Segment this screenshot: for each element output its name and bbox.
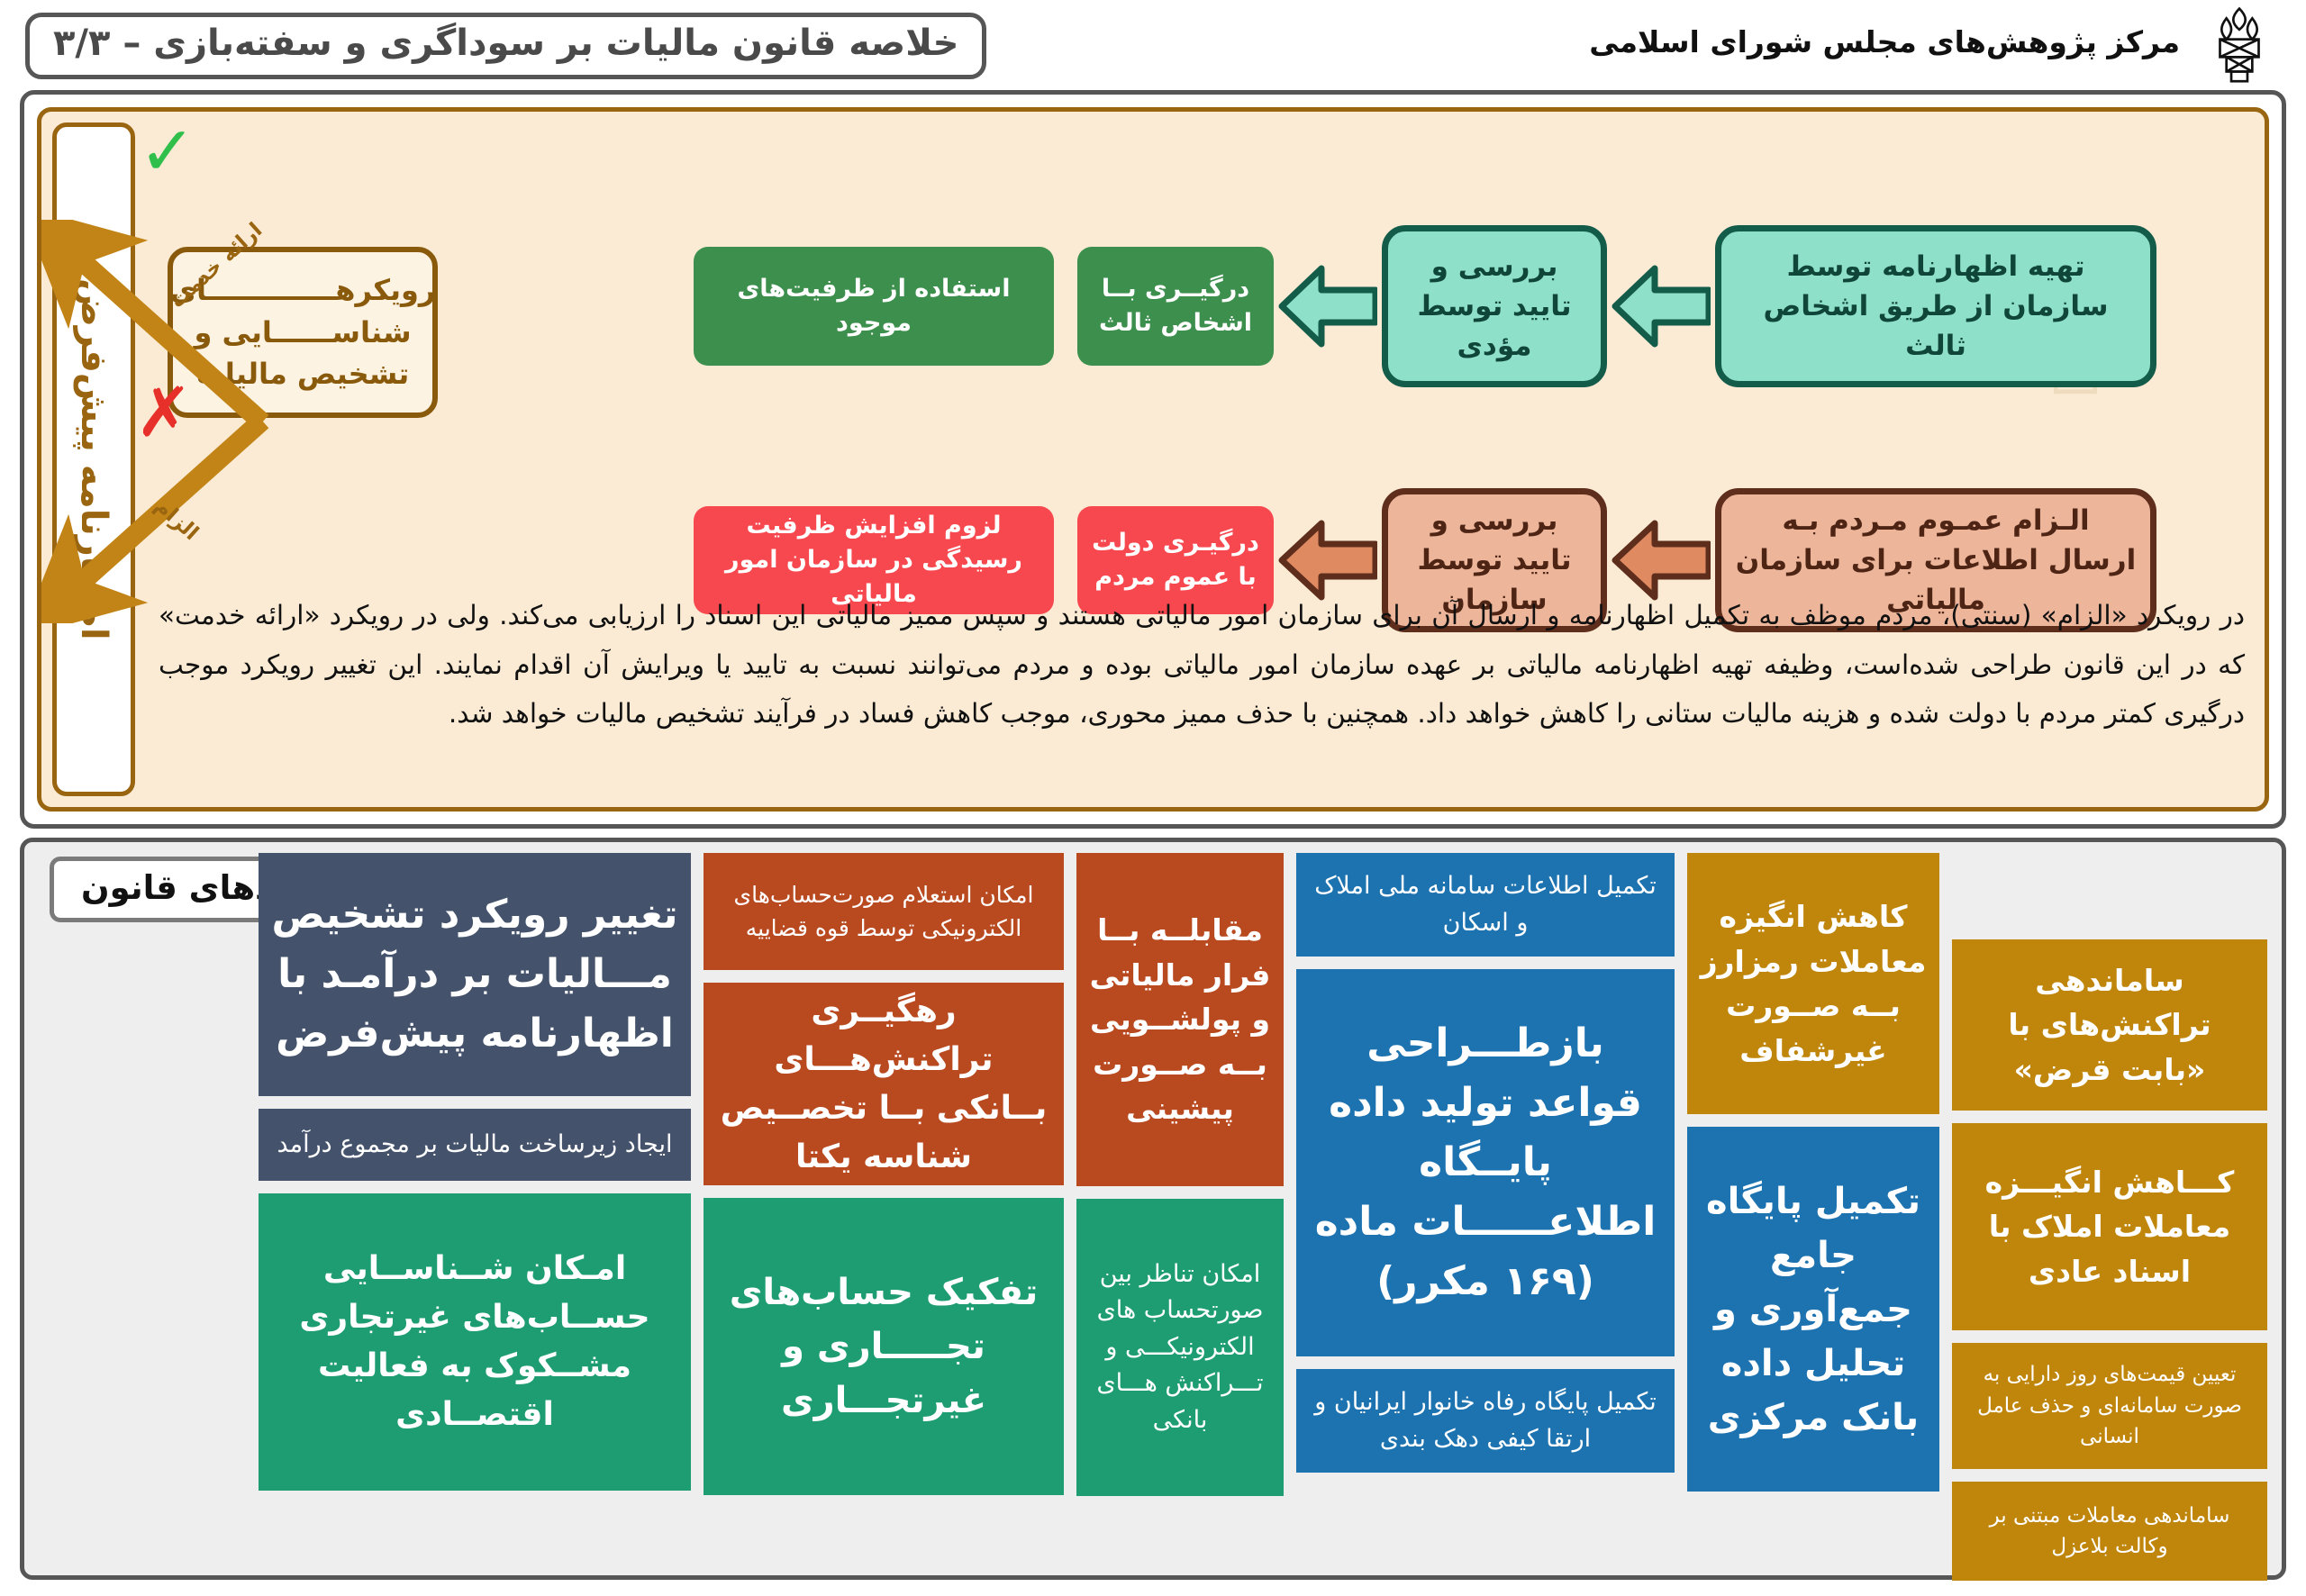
achievement-card: تکمیل پایگاه رفاه خانوار ایرانیان و ارتق… <box>1296 1369 1675 1473</box>
achievement-card: بازطـــراحی قواعد تولید داده پایــگاه اط… <box>1296 969 1675 1356</box>
achievement-text: رهگیــری تراکنش‌هـــای بــانکی بــا تخصـ… <box>716 987 1051 1182</box>
achievement-card: ساماندهی تراکنش‌های با «بابت قرض» <box>1952 939 2267 1111</box>
left-arrow-icon <box>1278 519 1377 602</box>
achievement-card: امـکان شــناســایی حســاب‌های غیرتجاری م… <box>259 1193 691 1491</box>
chain-node: بررسی و تایید توسط مؤدی <box>1382 225 1607 387</box>
achievements-panel: دستاوردهای قانون ساماندهی تراکنش‌های با … <box>20 838 2286 1580</box>
achievement-card: تعیین قیمت‌های روز دارایی به صورت سامانه… <box>1952 1343 2267 1469</box>
achievement-card: تکمیل اطلاعات سامانه ملی املاک و اسکان <box>1296 853 1675 957</box>
achievement-text: مقابلــه بــا فرار مالیاتی و پولشــویی ب… <box>1089 908 1271 1131</box>
achievement-card: امکان استعلام صورت‌حساب‌های الکترونیکی ت… <box>704 853 1064 970</box>
achievement-text: تغییر رویکرد تشخیص مـــالیات بر درآمـد ب… <box>271 885 678 1064</box>
achievement-text: ایجاد زیرساخت مالیات بر مجموع درآمد <box>277 1127 673 1164</box>
achievement-card: ساماندهی معاملات مبتنی بر وکالت بلاعزل <box>1952 1482 2267 1581</box>
achievement-text: امـکان شــناســایی حســاب‌های غیرتجاری م… <box>271 1245 678 1439</box>
chain-node-text: درگیــری بــا اشخاص ثالث <box>1090 272 1261 341</box>
achievement-text: امکان تناظر بین صورتحساب های الکترونیکــ… <box>1089 1256 1271 1439</box>
chain-node-text: درگیـری دولت با عموم مردم <box>1090 526 1261 595</box>
navy-column: تغییر رویکرد تشخیص مـــالیات بر درآمـد ب… <box>259 853 691 1491</box>
mixed-column: مقابلــه بــا فرار مالیاتی و پولشــویی ب… <box>1076 853 1284 1496</box>
achievements-grid: ساماندهی تراکنش‌های با «بابت قرض» کـــاه… <box>39 853 2267 1564</box>
left-arrow-icon <box>1611 519 1711 602</box>
chain-node-text: استفاده از ظرفیت‌های موجود <box>706 272 1041 341</box>
gold-left-column: ساماندهی تراکنش‌های با «بابت قرض» کـــاه… <box>1952 939 2267 1581</box>
achievement-card: کاهش انگیزه معاملات رمزارز بــه صــورت غ… <box>1687 853 1939 1114</box>
achievement-text: بازطـــراحی قواعد تولید داده پایــگاه اط… <box>1309 1014 1662 1311</box>
achievement-text: کاهش انگیزه معاملات رمزارز بــه صــورت غ… <box>1700 894 1927 1073</box>
achievement-text: تکمیل اطلاعات سامانه ملی املاک و اسکان <box>1309 868 1662 941</box>
left-arrow-icon <box>1611 263 1711 349</box>
achievement-text: تکمیل پایگاه جامع جمع‌آوری و تحلیل داده … <box>1700 1174 1927 1445</box>
check-mark-icon: ✓ <box>139 117 196 186</box>
achievement-text: تفکیک حساب‌های تجـــــاری و غیرتجـــاری <box>716 1265 1051 1428</box>
chain-node: درگیــری بــا اشخاص ثالث <box>1077 247 1274 366</box>
achievement-card: ایجاد زیرساخت مالیات بر مجموع درآمد <box>259 1109 691 1181</box>
left-arrow-icon <box>1278 263 1377 349</box>
gold-blue-column: کاهش انگیزه معاملات رمزارز بــه صــورت غ… <box>1687 853 1939 1492</box>
achievement-card: تغییر رویکرد تشخیص مـــالیات بر درآمـد ب… <box>259 853 691 1096</box>
chain-arrow <box>1607 225 1715 387</box>
explanatory-paragraph: در رویکرد «الزام» (سنتی)، مردم موظف به ت… <box>159 591 2245 739</box>
chain-node: استفاده از ظرفیت‌های موجود <box>694 247 1054 366</box>
achievement-text: امکان استعلام صورت‌حساب‌های الکترونیکی ت… <box>716 878 1051 946</box>
achievement-card: تفکیک حساب‌های تجـــــاری و غیرتجـــاری <box>704 1198 1064 1495</box>
page-title-chip: خلاصه قانون مالیات بر سوداگری و سفته‌باز… <box>25 13 986 79</box>
achievement-card: تکمیل پایگاه جامع جمع‌آوری و تحلیل داده … <box>1687 1127 1939 1492</box>
achievement-text: ساماندهی تراکنش‌های با «بابت قرض» <box>1965 958 2255 1093</box>
cross-mark-icon: ✗ <box>135 378 193 447</box>
achievement-text: ساماندهی معاملات مبتنی بر وکالت بلاعزل <box>1965 1501 2255 1563</box>
achievement-card: امکان تناظر بین صورتحساب های الکترونیکــ… <box>1076 1199 1284 1496</box>
majlis-research-center-logo-icon <box>2198 5 2281 83</box>
page-header: مرکز پژوهش‌های مجلس شورای اسلامی خلاصه ق… <box>0 0 2306 86</box>
achievement-card: کـــاهش انگیـــزه معاملات املاک با اسناد… <box>1952 1123 2267 1330</box>
achievement-text: کـــاهش انگیـــزه معاملات املاک با اسناد… <box>1965 1160 2255 1294</box>
blue-column: تکمیل اطلاعات سامانه ملی املاک و اسکان ب… <box>1296 853 1675 1473</box>
rust-column: امکان استعلام صورت‌حساب‌های الکترونیکی ت… <box>704 853 1064 1495</box>
brand: مرکز پژوهش‌های مجلس شورای اسلامی <box>1589 5 2281 83</box>
achievement-text: تعیین قیمت‌های روز دارایی به صورت سامانه… <box>1965 1359 2255 1453</box>
chain-node-text: بررسی و تایید توسط مؤدی <box>1401 247 1588 366</box>
declaration-panel: اظهارنامه پیش‌فرض رویکرهـــــــــــــای … <box>20 90 2286 829</box>
achievement-card: مقابلــه بــا فرار مالیاتی و پولشــویی ب… <box>1076 853 1284 1186</box>
service-approach-chain: تهیه اظهارنامه توسط سازمان از طریق اشخاص… <box>694 225 2156 387</box>
achievement-text: تکمیل پایگاه رفاه خانوار ایرانیان و ارتق… <box>1309 1384 1662 1457</box>
chain-arrow <box>1274 225 1382 387</box>
page-title: خلاصه قانون مالیات بر سوداگری و سفته‌باز… <box>53 23 958 64</box>
chain-node: تهیه اظهارنامه توسط سازمان از طریق اشخاص… <box>1715 225 2156 387</box>
achievement-card: رهگیــری تراکنش‌هـــای بــانکی بــا تخصـ… <box>704 983 1064 1185</box>
chain-node-text: تهیه اظهارنامه توسط سازمان از طریق اشخاص… <box>1734 247 2138 366</box>
declaration-panel-inner: اظهارنامه پیش‌فرض رویکرهـــــــــــــای … <box>37 107 2269 812</box>
org-name: مرکز پژوهش‌های مجلس شورای اسلامی <box>1589 24 2180 65</box>
